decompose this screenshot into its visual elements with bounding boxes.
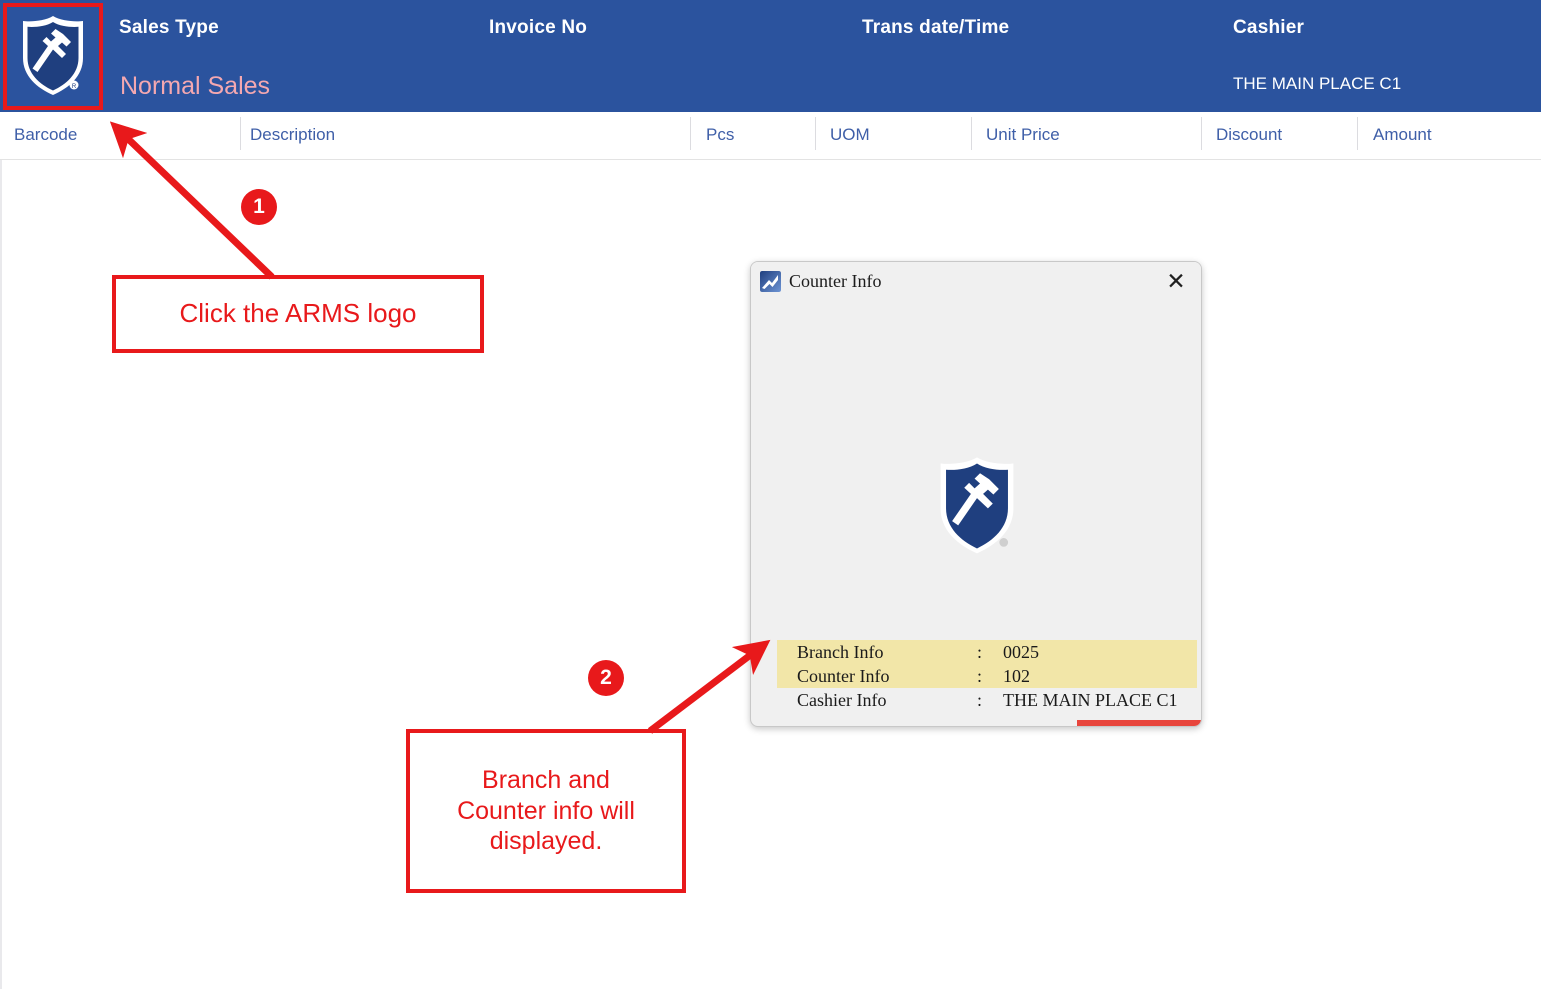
column-header-amount[interactable]: Amount [1373,125,1432,145]
info-value-cashier: THE MAIN PLACE C1 [1003,690,1178,711]
annotation-callout-1-text: Click the ARMS logo [180,298,417,330]
grid-left-edge [0,160,2,989]
esc-close-button[interactable]: ESC - Close [1077,720,1202,727]
step-badge-1: 1 [241,189,277,225]
info-separator: : [977,690,1003,711]
dialog-title-bar[interactable]: Counter Info ✕ [751,262,1202,300]
column-header-barcode[interactable]: Barcode [14,125,77,145]
logo-highlight-rect [3,3,103,110]
column-header-description[interactable]: Description [250,125,335,145]
column-divider [971,117,972,150]
counter-info-dialog: Counter Info ✕ Branch Info : 0025 [750,261,1202,727]
column-header-pcs[interactable]: Pcs [706,125,734,145]
info-label-branch: Branch Info [777,642,977,663]
info-row-cashier: Cashier Info : THE MAIN PLACE C1 [777,688,1197,712]
header-label-invoice-no: Invoice No [489,17,587,39]
header-label-cashier: Cashier [1233,17,1304,39]
close-icon[interactable]: ✕ [1157,266,1195,296]
column-header-uom[interactable]: UOM [830,125,870,145]
column-divider [1357,117,1358,150]
step-badge-2: 2 [588,660,624,696]
annotation-callout-2-text: Branch andCounter info willdisplayed. [457,765,635,857]
pos-sales-screen: R Sales Type Invoice No Trans date/Time … [0,0,1541,989]
info-label-cashier: Cashier Info [777,690,977,711]
info-value-counter: 102 [1003,666,1030,687]
arms-shield-logo-icon [927,455,1027,557]
info-value-branch: 0025 [1003,642,1039,663]
info-separator: : [977,666,1003,687]
header-value-cashier: THE MAIN PLACE C1 [1233,74,1401,94]
column-divider [815,117,816,150]
header-value-sales-type: Normal Sales [120,72,270,101]
info-label-counter: Counter Info [777,666,977,687]
annotation-callout-1: Click the ARMS logo [112,275,484,353]
column-divider [240,117,241,150]
annotation-callout-2: Branch andCounter info willdisplayed. [406,729,686,893]
dialog-title: Counter Info [789,271,881,292]
dialog-body: Branch Info : 0025 Counter Info : 102 Ca… [751,300,1202,727]
arms-window-icon [760,271,781,292]
header-label-sales-type: Sales Type [119,17,219,39]
column-header-discount[interactable]: Discount [1216,125,1282,145]
header-label-trans-date: Trans date/Time [862,17,1009,39]
items-table-header: Barcode Description Pcs UOM Unit Price D… [0,112,1541,160]
column-divider [1201,117,1202,150]
counter-info-table: Branch Info : 0025 Counter Info : 102 Ca… [777,640,1197,712]
app-header-bar: R Sales Type Invoice No Trans date/Time … [0,0,1541,112]
info-row-counter: Counter Info : 102 [777,664,1197,688]
info-row-branch: Branch Info : 0025 [777,640,1197,664]
annotation-arrow-2 [650,650,757,731]
column-divider [690,117,691,150]
info-separator: : [977,642,1003,663]
column-header-unit-price[interactable]: Unit Price [986,125,1060,145]
